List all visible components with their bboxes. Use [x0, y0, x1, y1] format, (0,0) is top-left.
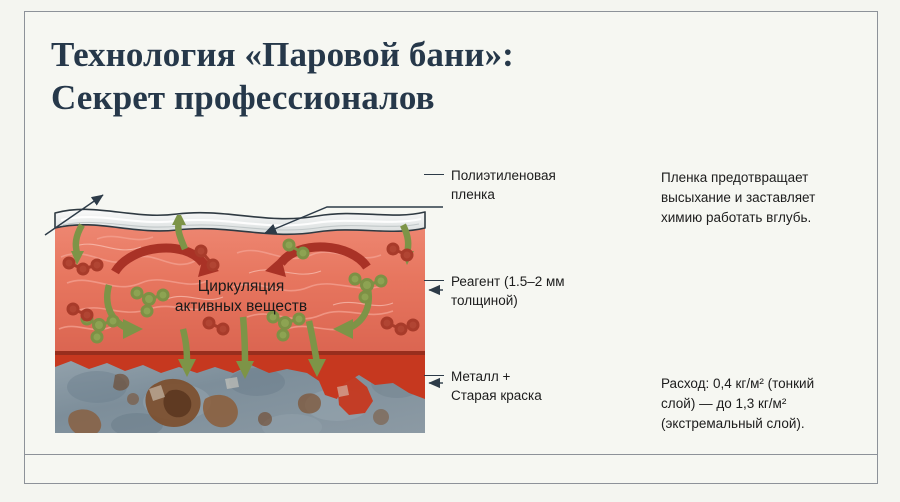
page-title-line-1: Технология «Паровой бани»: — [51, 34, 711, 77]
callout-leader-dash — [424, 174, 444, 175]
callout-film-line-2: пленка — [451, 185, 636, 204]
note-film-benefit-line-3: химию работать вглубь. — [661, 208, 866, 228]
note-film-benefit-line-1: Пленка предотвращает — [661, 168, 866, 188]
callout-reagent-line-1: Реагент (1.5–2 мм — [451, 272, 636, 291]
illustration-label-line-2: активных веществ — [175, 298, 307, 315]
slide-frame: Технология «Паровой бани»: Секрет профес… — [24, 11, 878, 484]
illustration-label-line-1: Циркуляция — [198, 278, 284, 295]
page-title-line-2: Секрет профессионалов — [51, 77, 711, 120]
callout-leader-dash — [424, 375, 444, 376]
callout-metal-line-1: Металл + — [451, 367, 636, 386]
cross-section-illustration: Циркуляция активных веществ — [37, 187, 443, 442]
callout-leader-dash — [424, 280, 444, 281]
note-consumption-line-3: (экстремальный слой). — [661, 414, 866, 434]
callout-film-line-1: Полиэтиленовая — [451, 166, 636, 185]
note-film-benefit-line-2: высыхание и заставляет — [661, 188, 866, 208]
footer-divider — [25, 454, 877, 455]
callout-reagent: Реагент (1.5–2 мм толщиной) — [451, 272, 636, 310]
page-title: Технология «Паровой бани»: Секрет профес… — [51, 34, 711, 119]
note-consumption-line-1: Расход: 0,4 кг/м² (тонкий — [661, 374, 866, 394]
callout-list: Полиэтиленовая пленка Реагент (1.5–2 мм … — [451, 152, 651, 432]
note-film-benefit: Пленка предотвращает высыхание и заставл… — [661, 168, 866, 228]
note-consumption: Расход: 0,4 кг/м² (тонкий слой) — до 1,3… — [661, 374, 866, 434]
callout-metal: Металл + Старая краска — [451, 367, 636, 405]
callout-film: Полиэтиленовая пленка — [451, 166, 636, 204]
note-consumption-line-2: слой) — до 1,3 кг/м² — [661, 394, 866, 414]
callout-reagent-line-2: толщиной) — [451, 291, 636, 310]
callout-metal-line-2: Старая краска — [451, 386, 636, 405]
